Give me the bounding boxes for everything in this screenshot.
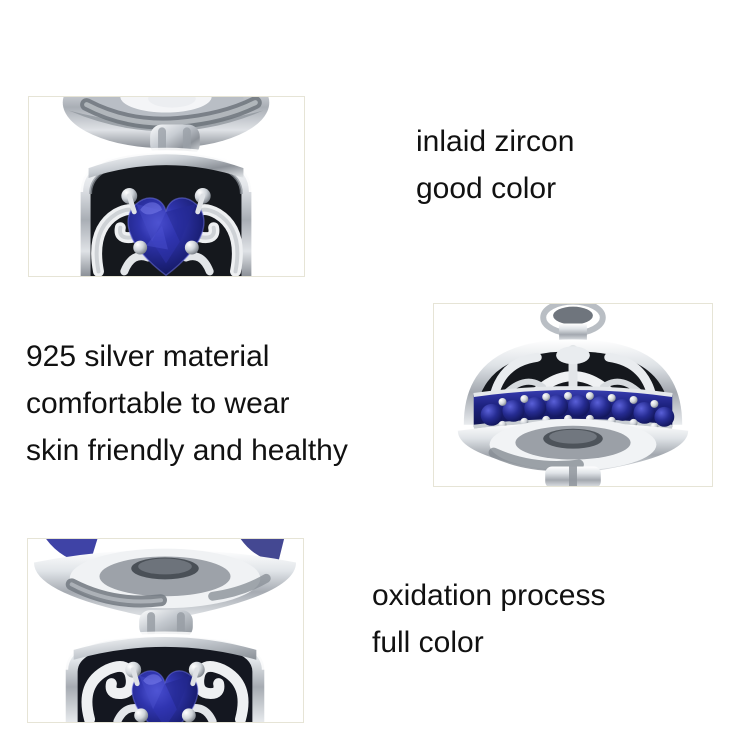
caption-925-silver: 925 silver material comfortable to wear … — [26, 333, 348, 474]
photo-image-area — [28, 539, 303, 722]
heart-charm-closeup-photo — [28, 96, 305, 277]
caption-oxidation-process: oxidation process full color — [372, 572, 605, 666]
heart-charm-closeup-artwork — [29, 97, 304, 276]
collage-canvas: inlaid zircon good color 925 silver mate… — [0, 0, 750, 750]
photo-image-area — [434, 304, 712, 486]
caption-line: good color — [416, 165, 574, 212]
caption-line: 925 silver material — [26, 333, 348, 380]
caption-line: oxidation process — [372, 572, 605, 619]
caption-line: skin friendly and healthy — [26, 427, 348, 474]
caption-inlaid-zircon: inlaid zircon good color — [416, 118, 574, 212]
zircon-band-photo — [433, 303, 713, 487]
photo-image-area — [29, 97, 304, 276]
caption-line: full color — [372, 619, 605, 666]
heart-charm-wide-photo — [27, 538, 304, 723]
caption-line: comfortable to wear — [26, 380, 348, 427]
heart-charm-wide-artwork — [28, 539, 303, 722]
zircon-band-artwork — [434, 304, 712, 486]
caption-line: inlaid zircon — [416, 118, 574, 165]
